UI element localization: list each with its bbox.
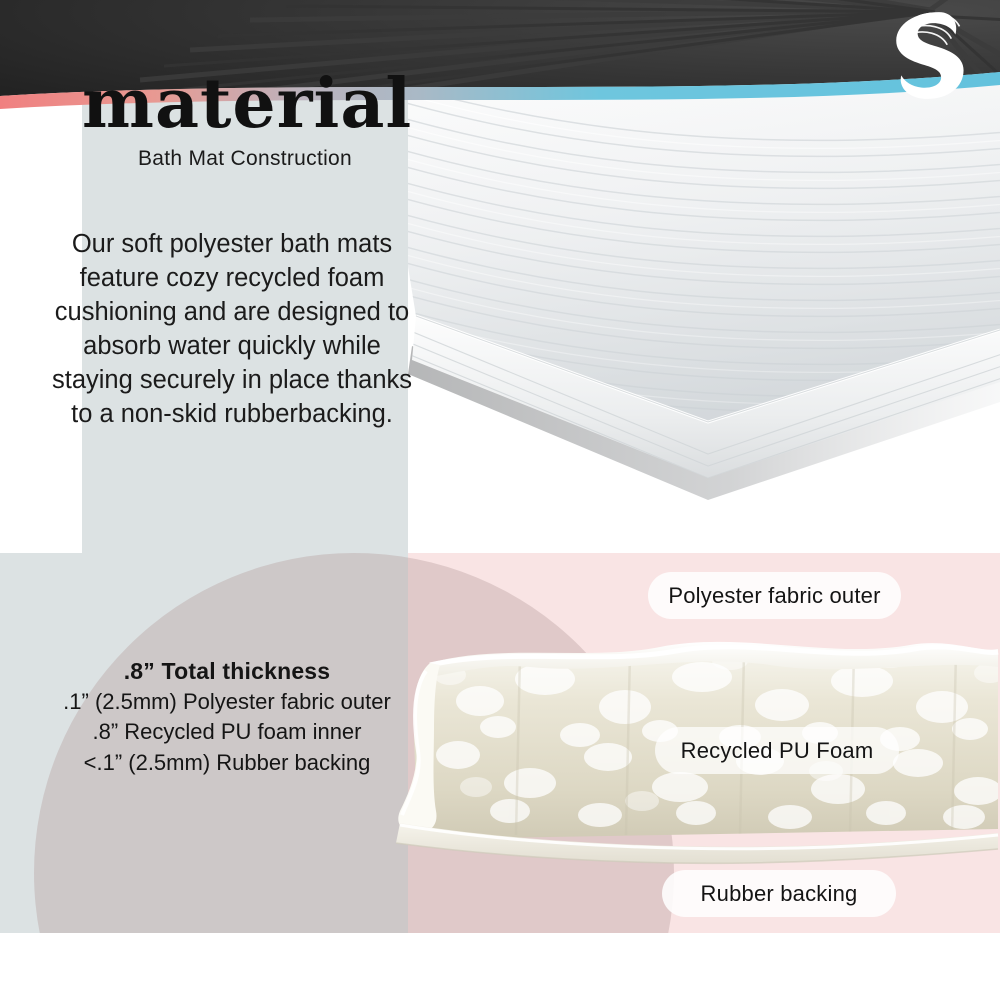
callout-label: Recycled PU Foam (681, 738, 874, 764)
callout-recycled-pu-foam: Recycled PU Foam (655, 727, 899, 774)
callout-rubber-backing: Rubber backing (662, 870, 896, 917)
spec-total-thickness: .8” Total thickness (32, 656, 422, 687)
callout-label: Polyester fabric outer (668, 583, 880, 609)
spec-block: .8” Total thickness .1” (2.5mm) Polyeste… (32, 656, 422, 778)
spec-line-rubber: <.1” (2.5mm) Rubber backing (32, 748, 422, 778)
callout-label: Rubber backing (701, 881, 858, 907)
spec-line-fabric: .1” (2.5mm) Polyester fabric outer (32, 687, 422, 717)
page-subtitle: Bath Mat Construction (82, 147, 408, 171)
intro-paragraph: Our soft polyester bath mats feature coz… (42, 228, 422, 431)
bottom-white-strip (0, 933, 1000, 1000)
page-title-block: material Bath Mat Construction (82, 72, 408, 171)
infographic-canvas: material Bath Mat Construction Our soft … (0, 0, 1000, 1000)
spec-line-foam: .8” Recycled PU foam inner (32, 717, 422, 747)
page-title: material (82, 72, 408, 137)
callout-polyester-fabric-outer: Polyester fabric outer (648, 572, 901, 619)
